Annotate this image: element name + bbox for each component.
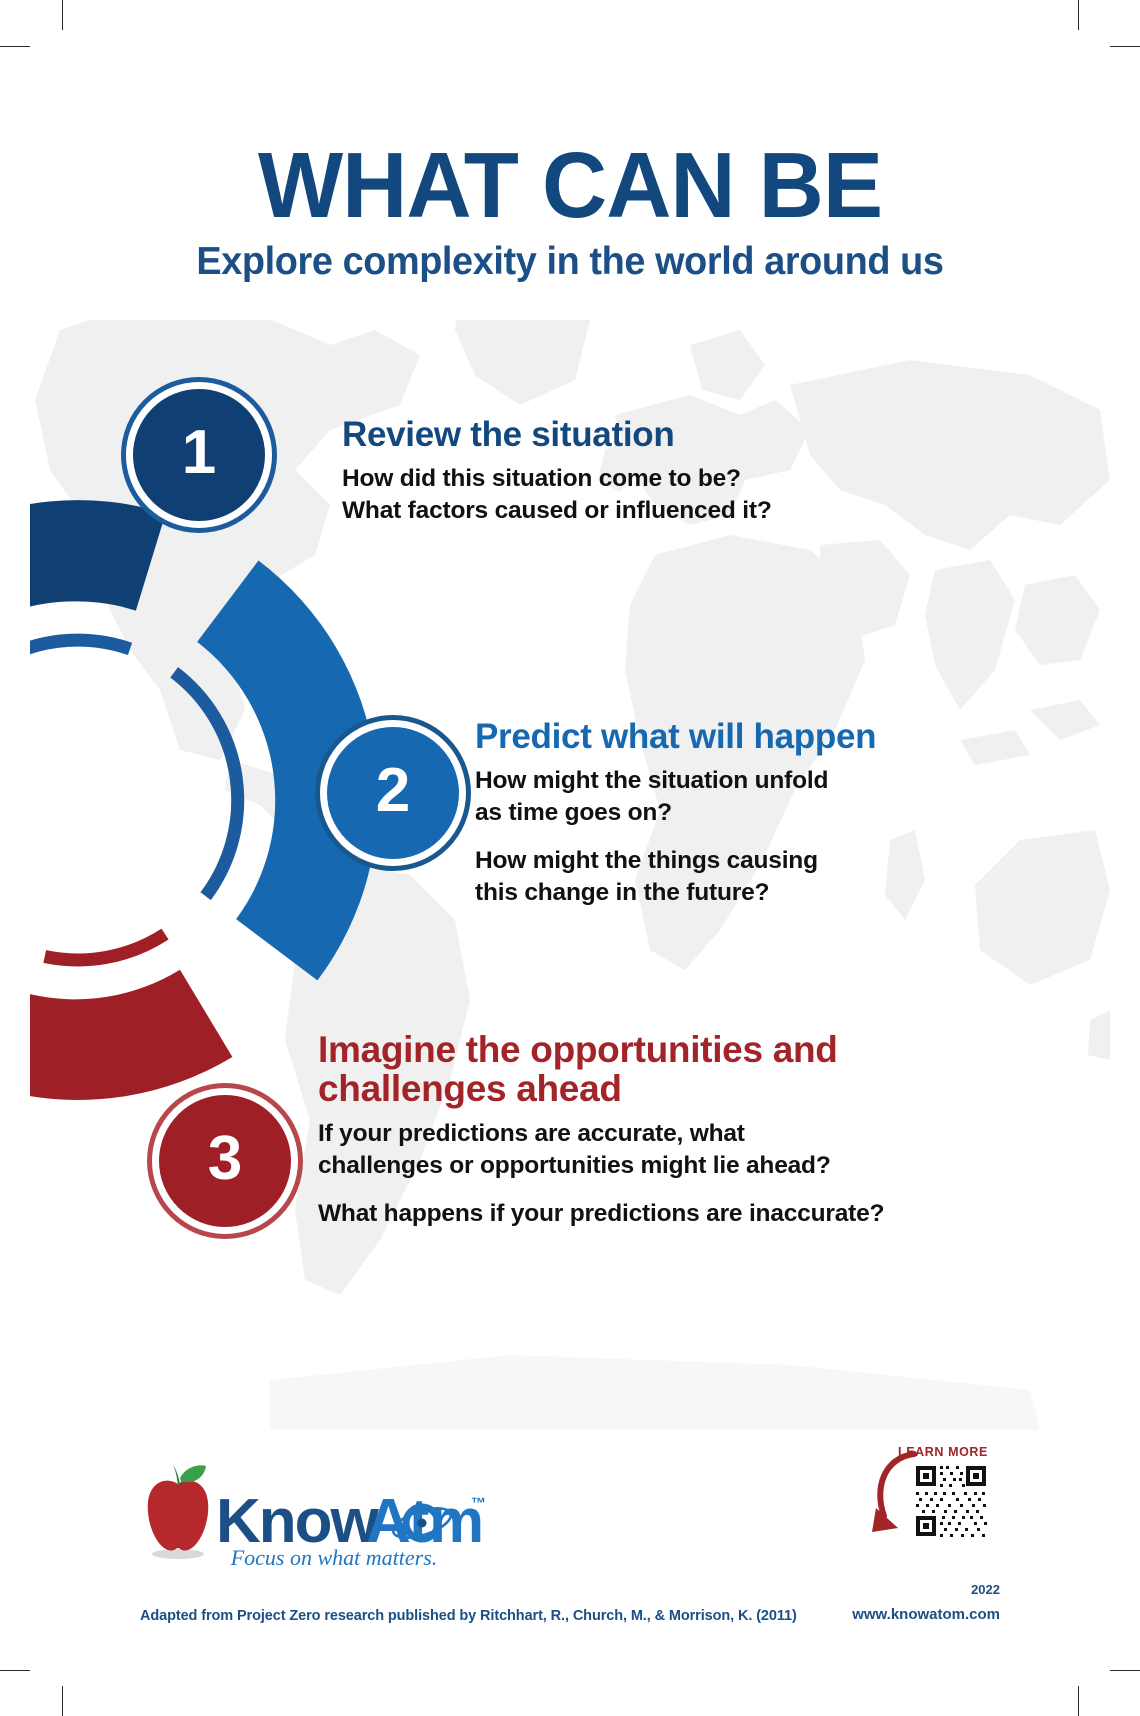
apple-icon <box>148 1465 209 1551</box>
inner-ring-blue <box>174 666 252 896</box>
learn-more-qr-block[interactable]: LEARN MORE <box>870 1442 990 1567</box>
inner-ring-red <box>45 911 165 980</box>
step-block-2: Predict what will happen How might the s… <box>475 718 995 908</box>
inner-ring-navy <box>30 607 130 699</box>
qr-code-icon <box>914 1464 988 1538</box>
curved-arrow-icon <box>880 1454 914 1516</box>
step-number-2: 2 <box>376 760 410 822</box>
step-badge-2: 2 <box>320 720 466 866</box>
website-url[interactable]: www.knowatom.com <box>780 1606 1000 1623</box>
step-block-1: Review the situation How did this situat… <box>342 416 902 527</box>
apple-shadow <box>152 1549 204 1559</box>
step-badge-1: 1 <box>126 382 272 528</box>
logo-trademark: ™ <box>471 1495 486 1512</box>
step-number-1: 1 <box>182 422 216 484</box>
logo-tagline: Focus on what matters. <box>230 1545 438 1570</box>
step-badge-3: 3 <box>152 1088 298 1234</box>
page-subtitle: Explore complexity in the world around u… <box>46 241 1094 284</box>
step-block-3: Imagine the opportunities and challenges… <box>318 1030 978 1230</box>
step-number-3: 3 <box>208 1128 242 1190</box>
page-title: WHAT CAN BE <box>46 140 1094 231</box>
citation-note: Adapted from Project Zero research publi… <box>140 1608 797 1624</box>
step-paragraph-1-1: How did this situation come to be? What … <box>342 463 902 527</box>
step-paragraph-3-2: What happens if your predictions are ina… <box>318 1198 978 1230</box>
poster-header: WHAT CAN BE Explore complexity in the wo… <box>30 140 1110 284</box>
copyright-year: 2022 <box>800 1582 1000 1597</box>
step-heading-3: Imagine the opportunities and challenges… <box>318 1030 978 1108</box>
poster-canvas: WHAT CAN BE Explore complexity in the wo… <box>30 30 1110 1686</box>
step-paragraph-2-1: How might the situation unfold as time g… <box>475 765 995 829</box>
step-heading-2: Predict what will happen <box>475 718 995 755</box>
knowatom-logo[interactable]: Know At m ™ Focus on what matters. <box>138 1458 488 1568</box>
step-paragraph-3-1: If your predictions are accurate, what c… <box>318 1118 978 1182</box>
step-heading-1: Review the situation <box>342 416 902 453</box>
step-paragraph-2-2: How might the things causing this change… <box>475 845 995 909</box>
